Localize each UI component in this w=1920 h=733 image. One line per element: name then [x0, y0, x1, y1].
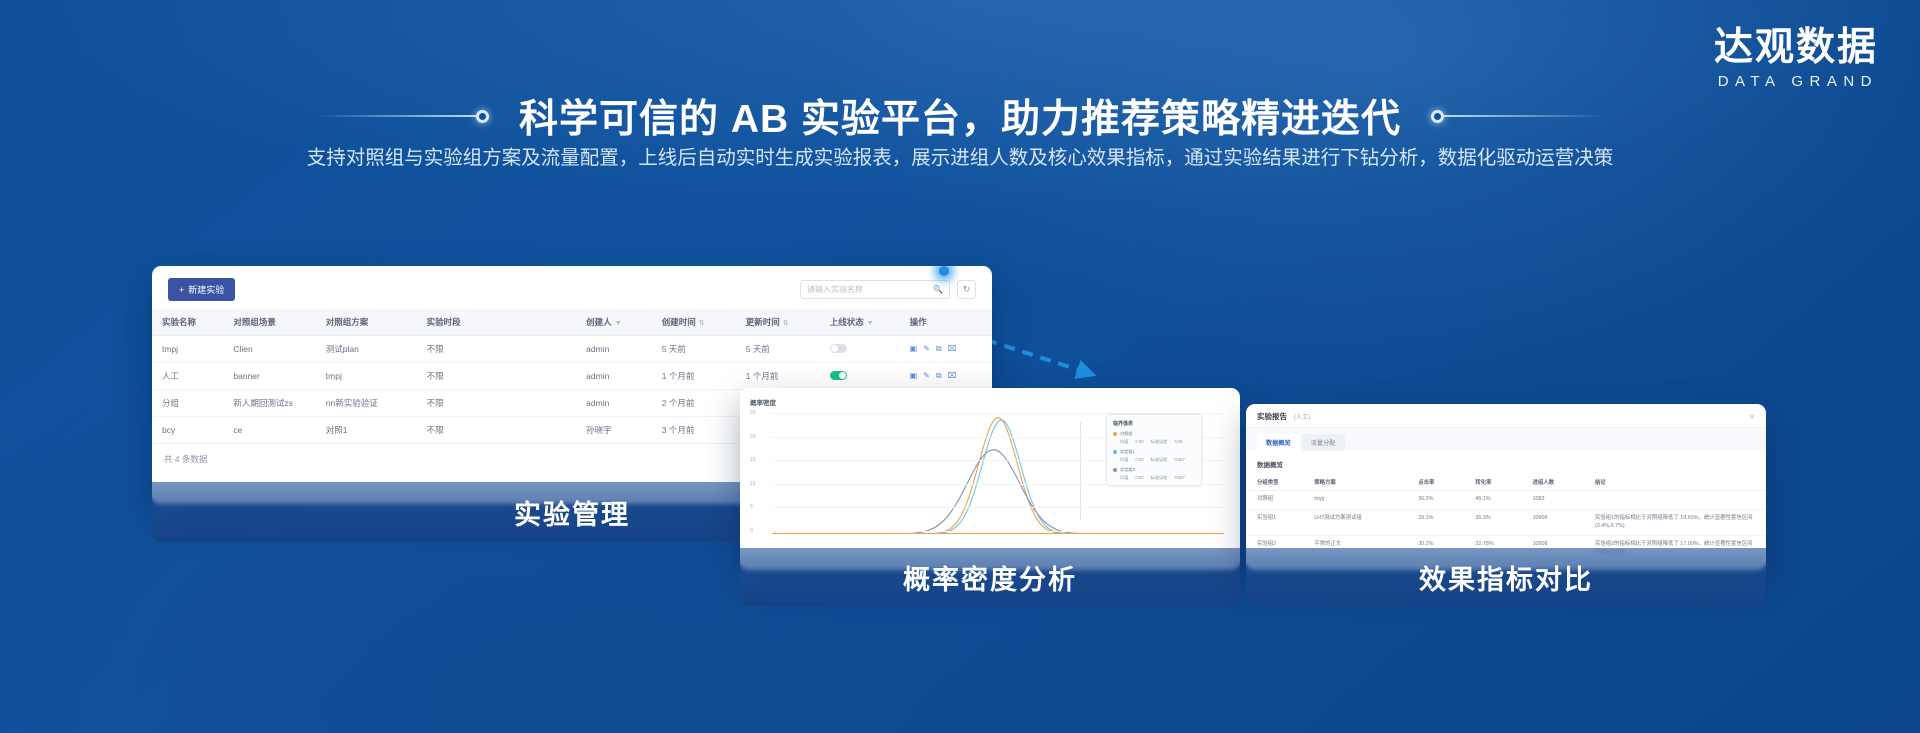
effect-conclusion [1584, 491, 1766, 510]
experiment-scene: Clien [223, 336, 315, 363]
tooltip-group: 对照组均值0.00标准误差0.00 [1113, 431, 1195, 445]
experiment-name: 人工 [152, 363, 223, 390]
refresh-icon: ↻ [963, 284, 971, 295]
chart-tooltip: 临界值表 对照组均值0.00标准误差0.00实验组1均值0.00标准误差0.00… [1106, 414, 1202, 486]
chart-y-tick: 25 [750, 410, 756, 416]
chart-y-tick: 5 [750, 504, 753, 510]
page-subtitle: 支持对照组与实验组方案及流量配置，上线后自动实时生成实验报表，展示进组人数及核心… [250, 142, 1670, 176]
extra-value: 0.007 [1174, 475, 1184, 481]
column-header-updated[interactable]: 更新时间⇅ [736, 309, 820, 336]
decoration-line [317, 115, 477, 117]
headline-decoration-left [317, 110, 489, 123]
stat-value: 0.00 [1135, 475, 1143, 481]
column-header-ctr: 点击率 [1407, 474, 1464, 491]
column-header-plan: 对照组方案 [316, 309, 417, 336]
headline-row: 科学可信的 AB 实验平台，助力推荐策略精进迭代 [0, 88, 1920, 144]
chart-y-tick: 20 [750, 434, 756, 440]
delete-icon[interactable]: ⌧ [948, 344, 957, 354]
experiment-scene: ce [223, 417, 315, 444]
experiment-period: 不限 [417, 390, 577, 417]
experiment-name: 分组 [152, 390, 223, 417]
effect-plan: LH7测试方案测试组 [1303, 509, 1407, 536]
experiment-plan: nn新实验验证 [316, 390, 417, 417]
search-placeholder: 请输入实验名称 [807, 284, 933, 295]
copy-icon[interactable]: ⧉ [936, 344, 942, 354]
column-header-created[interactable]: 创建时间⇅ [652, 309, 736, 336]
row-actions: ▣✎⧉⌧ [900, 336, 992, 363]
decoration-dot-icon [476, 110, 489, 123]
legend-label: 实验组1 [1120, 449, 1135, 455]
effect-users: 10908 [1522, 509, 1584, 536]
effect-conclusion: 实验组1的指标相比于对照组降低了 19.60%，统计显著性置信区间 (3.4%,… [1584, 509, 1766, 536]
column-header-conclusion: 结论 [1584, 474, 1766, 491]
legend-label: 实验组2 [1120, 467, 1135, 473]
tooltip-title: 临界值表 [1113, 420, 1195, 427]
experiment-period: 不限 [417, 363, 577, 390]
column-header-users: 进组人数 [1522, 474, 1584, 491]
experiment-created: 1 个月前 [652, 363, 736, 390]
table-row[interactable]: tmpjClien测试plan不限admin5 天前5 天前▣✎⧉⌧ [152, 336, 992, 363]
extra-label: 标准误差 [1151, 457, 1168, 463]
column-header-creator[interactable]: 创建人▼ [576, 309, 652, 336]
refresh-button[interactable]: ↻ [957, 280, 976, 299]
sort-icon: ⇅ [783, 320, 789, 327]
experiment-toolbar: + 新建实验 请输入实验名称 🔍 ↻ [152, 266, 992, 309]
toggle-switch[interactable] [830, 371, 847, 380]
sort-icon: ⇅ [699, 320, 705, 327]
column-header-name: 实验名称 [152, 309, 223, 336]
headline-decoration-right [1431, 110, 1603, 123]
stat-label: 均值 [1120, 457, 1128, 463]
experiment-creator: admin [576, 363, 652, 390]
toggle-switch[interactable] [830, 344, 847, 353]
extra-label: 标准误差 [1151, 439, 1168, 445]
effect-users: 1083 [1522, 491, 1584, 510]
table-row[interactable]: 人工bannertmpj不限admin1 个月前1 个月前▣✎⧉⌧ [152, 363, 992, 390]
online-toggle[interactable] [820, 363, 900, 390]
experiment-creator: admin [576, 336, 652, 363]
effect-cvr: 45.1% [1464, 491, 1521, 510]
column-header-cvr: 转化率 [1464, 474, 1521, 491]
new-experiment-label: 新建实验 [188, 283, 224, 296]
view-icon[interactable]: ▣ [910, 344, 918, 354]
stat-value: 0.00 [1135, 439, 1143, 445]
tooltip-group: 实验组1均值0.00标准误差0.007 [1113, 449, 1195, 463]
experiment-created: 5 天前 [652, 336, 736, 363]
new-experiment-button[interactable]: + 新建实验 [168, 278, 235, 301]
effect-group: 对照组 [1246, 491, 1303, 510]
report-subtitle: (人工) [1294, 412, 1310, 421]
view-icon[interactable]: ▣ [910, 371, 918, 381]
edit-icon[interactable]: ✎ [923, 371, 930, 381]
tab-0[interactable]: 数据概览 [1257, 434, 1300, 451]
filter-icon: ▼ [867, 320, 874, 327]
caption-probability-density: 概率密度分析 [740, 548, 1240, 606]
brand-logo-cn: 达观数据 [1714, 28, 1878, 67]
stat-label: 均值 [1120, 475, 1128, 481]
extra-value: 0.007 [1174, 457, 1184, 463]
experiment-period: 不限 [417, 336, 577, 363]
legend-swatch [1113, 450, 1117, 454]
copy-icon[interactable]: ⧉ [936, 371, 942, 381]
slide-canvas: 达观数据 DATA GRAND 科学可信的 AB 实验平台，助力推荐策略精进迭代… [0, 0, 1920, 733]
online-toggle[interactable] [820, 336, 900, 363]
experiment-plan: 测试plan [316, 336, 417, 363]
density-chart: 概率密度 2520151050 -0.200-0.180-0.160-0.140… [740, 388, 1240, 570]
column-header-period: 实验时段 [417, 309, 577, 336]
experiment-name: bcy [152, 417, 223, 444]
column-header-scene: 对照组场景 [223, 309, 315, 336]
extra-value: 0.00 [1174, 439, 1182, 445]
chart-gridline [772, 531, 1224, 532]
delete-icon[interactable]: ⌧ [948, 371, 957, 381]
edit-icon[interactable]: ✎ [923, 344, 930, 354]
screenshot-effect-comparison: 实验报告 (人工) ✕ 数据概览流量分配 数据概览 分组类型 策略方案 点击率 … [1246, 404, 1766, 570]
tab-1[interactable]: 流量分配 [1302, 434, 1345, 451]
experiment-scene: 新人期回测试zs [223, 390, 315, 417]
cursor-dot-icon [939, 266, 949, 276]
chart-title: 概率密度 [750, 397, 1228, 407]
decoration-line [1443, 115, 1603, 117]
column-header-group: 分组类型 [1246, 474, 1303, 491]
close-icon[interactable]: ✕ [1749, 413, 1755, 421]
experiment-plan: 对照1 [316, 417, 417, 444]
chart-x-axis [772, 533, 1224, 534]
report-header: 实验报告 (人工) ✕ [1246, 404, 1766, 428]
report-tabs: 数据概览流量分配 [1246, 428, 1766, 451]
effect-plan: tmpj [1303, 491, 1407, 510]
brand-logo: 达观数据 DATA GRAND [1714, 28, 1878, 89]
screenshot-probability-density: 概率密度 2520151050 -0.200-0.180-0.160-0.140… [740, 388, 1240, 570]
table-header-row: 实验名称 对照组场景 对照组方案 实验时段 创建人▼ 创建时间⇅ 更新时间⇅ 上… [152, 309, 992, 336]
stat-label: 均值 [1120, 439, 1128, 445]
column-header-plan: 策略方案 [1303, 474, 1407, 491]
effect-table-header-row: 分组类型 策略方案 点击率 转化率 进组人数 结论 [1246, 474, 1766, 491]
effect-group: 实验组1 [1246, 509, 1303, 536]
chart-gridline [772, 507, 1224, 508]
tooltip-groups: 对照组均值0.00标准误差0.00实验组1均值0.00标准误差0.007实验组2… [1113, 431, 1195, 481]
plus-icon: + [179, 285, 184, 295]
experiment-created: 3 个月前 [652, 417, 736, 444]
chart-y-tick: 15 [750, 457, 756, 463]
chart-y-tick: 0 [750, 528, 753, 534]
table-row[interactable]: 对照组tmpj36.2%45.1%1083 [1246, 491, 1766, 510]
brand-logo-en: DATA GRAND [1714, 74, 1878, 89]
legend-swatch [1113, 468, 1117, 472]
effect-ctr: 29.1% [1407, 509, 1464, 536]
experiment-creator: admin [576, 390, 652, 417]
filter-icon: ▼ [615, 320, 622, 327]
report-section-title: 数据概览 [1246, 451, 1766, 474]
experiment-plan: tmpj [316, 363, 417, 390]
stat-value: 0.00 [1135, 457, 1143, 463]
extra-label: 标准误差 [1151, 475, 1168, 481]
column-header-online[interactable]: 上线状态▼ [820, 309, 900, 336]
tooltip-group: 实验组2均值0.00标准误差0.007 [1113, 467, 1195, 481]
chart-y-tick: 10 [750, 481, 756, 487]
table-row[interactable]: 实验组1LH7测试方案测试组29.1%36.3%10908实验组1的指标相比于对… [1246, 509, 1766, 536]
effect-cvr: 36.3% [1464, 509, 1521, 536]
legend-swatch [1113, 432, 1117, 436]
experiment-creator: 孙晓宇 [576, 417, 652, 444]
experiment-updated: 1 个月前 [736, 363, 820, 390]
page-title: 科学可信的 AB 实验平台，助力推荐策略精进迭代 [519, 88, 1401, 144]
legend-label: 对照组 [1120, 431, 1133, 437]
effect-ctr: 36.2% [1407, 491, 1464, 510]
caption-effect-comparison: 效果指标对比 [1246, 548, 1766, 606]
column-header-actions: 操作 [900, 309, 992, 336]
experiment-updated: 5 天前 [736, 336, 820, 363]
row-actions: ▣✎⧉⌧ [900, 363, 992, 390]
experiment-created: 2 个月前 [652, 390, 736, 417]
experiment-scene: banner [223, 363, 315, 390]
report-title: 实验报告 [1257, 411, 1287, 422]
experiment-period: 不限 [417, 417, 577, 444]
experiment-name: tmpj [152, 336, 223, 363]
search-input[interactable]: 请输入实验名称 🔍 [800, 280, 950, 299]
